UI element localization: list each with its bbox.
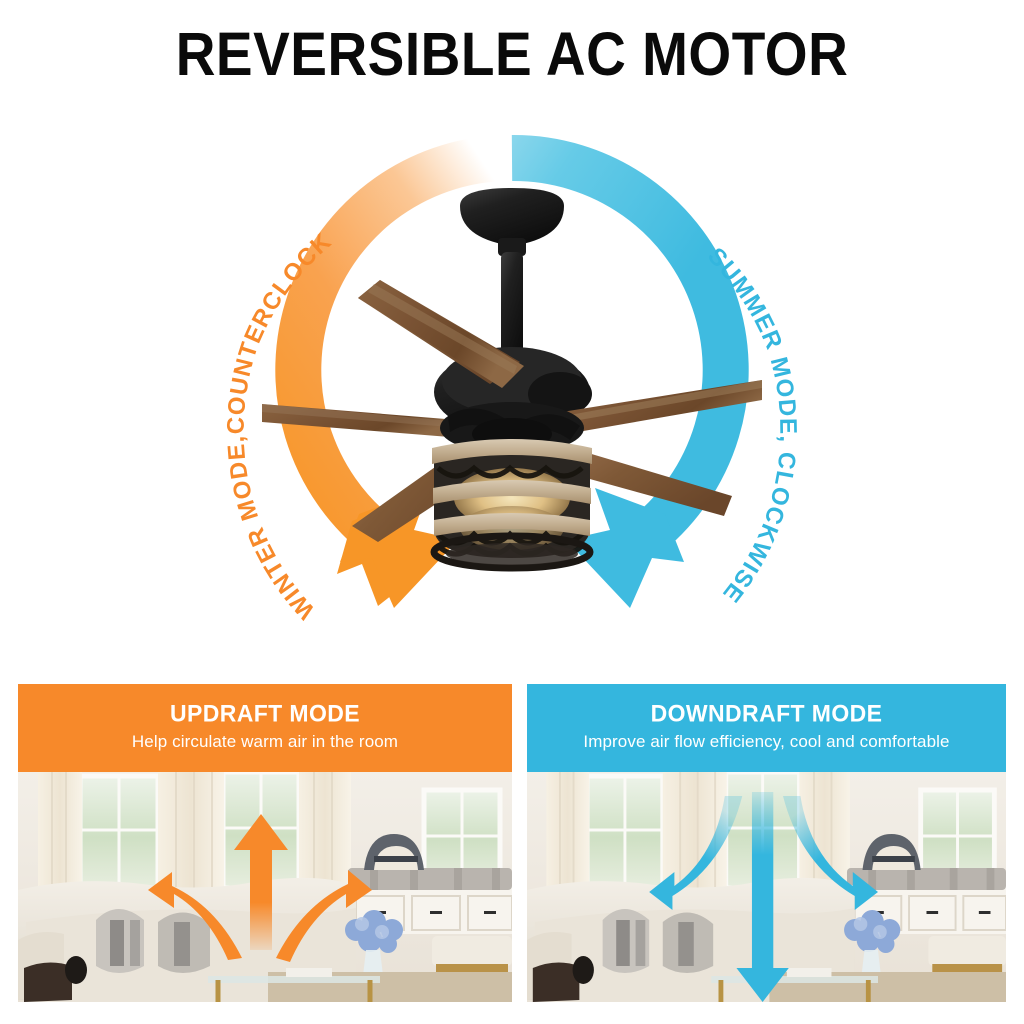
panel-updraft-title: UPDRAFT MODE <box>18 697 512 729</box>
room-photo-downdraft <box>527 772 1006 1002</box>
panel-downdraft-header: DOWNDRAFT MODE Improve air flow efficien… <box>527 684 1006 772</box>
panel-downdraft-title: DOWNDRAFT MODE <box>527 697 1006 729</box>
reversible-motor-diagram: WINTER MODE,COUNTERCLOCKWISE SUMMER MODE… <box>0 96 1024 656</box>
ceiling-fan-image <box>262 176 762 616</box>
panel-updraft-subtitle: Help circulate warm air in the room <box>18 728 512 756</box>
mode-panels: UPDRAFT MODE Help circulate warm air in … <box>0 684 1024 1004</box>
panel-downdraft-subtitle: Improve air flow efficiency, cool and co… <box>527 728 1006 756</box>
fan-light-kit <box>432 439 592 568</box>
panel-downdraft: DOWNDRAFT MODE Improve air flow efficien… <box>527 684 1006 1002</box>
room-photo-updraft <box>18 772 512 1002</box>
page-title: REVERSIBLE AC MOTOR <box>0 18 1024 90</box>
panel-updraft-header: UPDRAFT MODE Help circulate warm air in … <box>18 684 512 772</box>
panel-updraft: UPDRAFT MODE Help circulate warm air in … <box>18 684 512 1002</box>
